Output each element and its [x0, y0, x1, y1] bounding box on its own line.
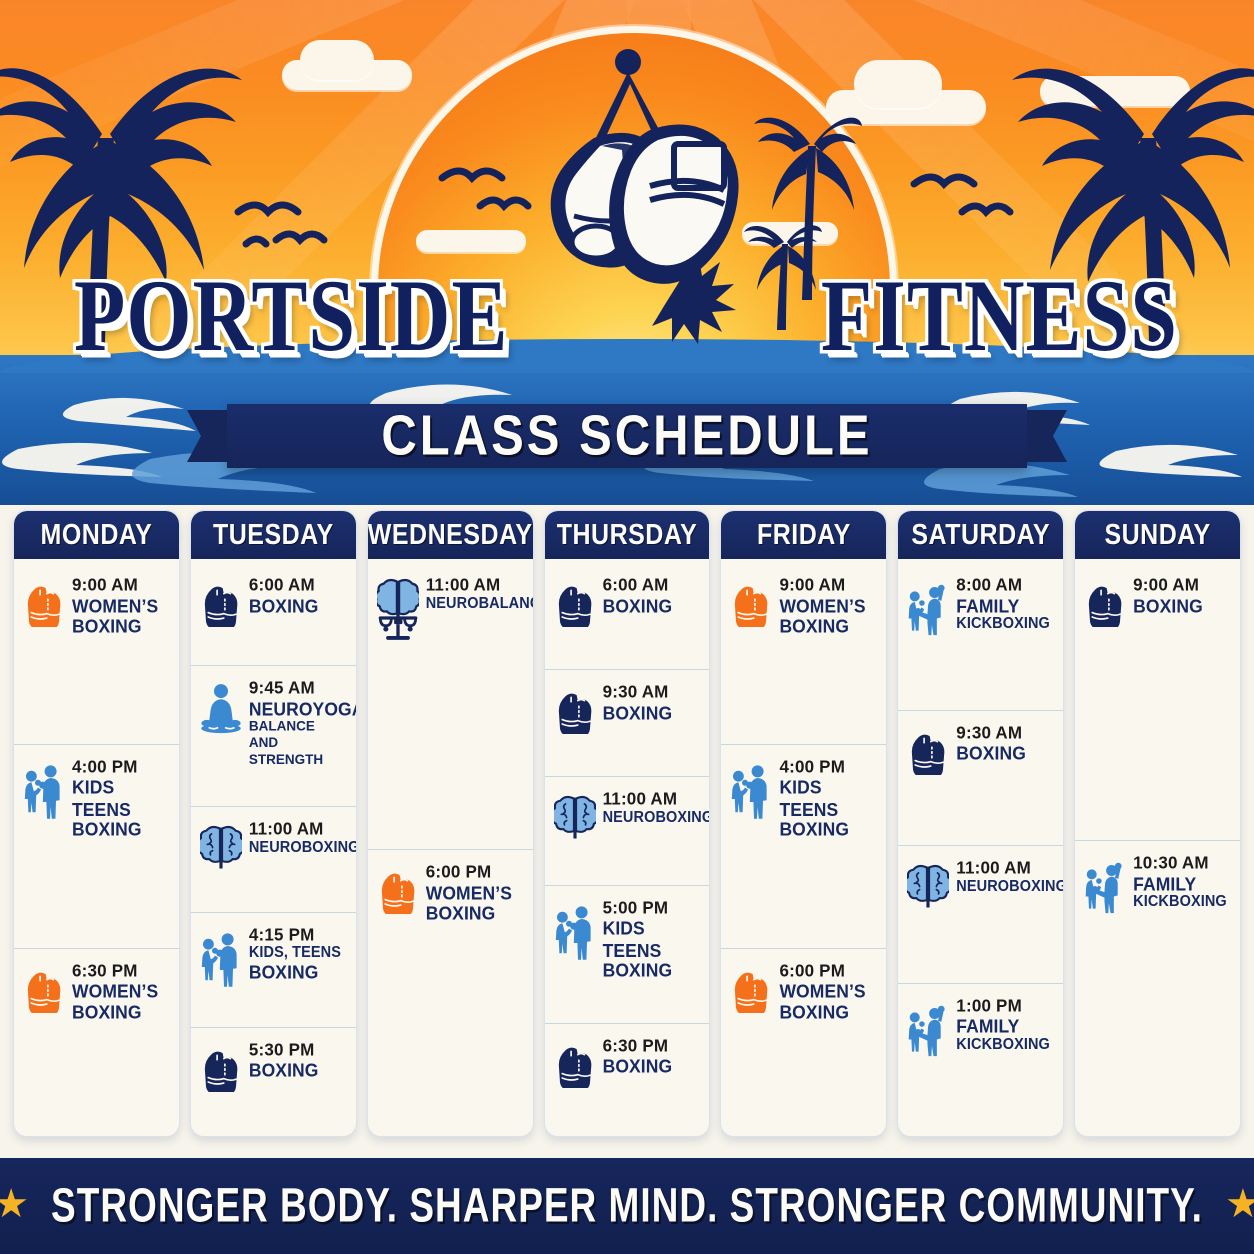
schedule-poster: PORTSIDE FITNESS CLASS SCHEDULE MONDAY9:…	[0, 0, 1254, 1254]
day-header: FRIDAY	[721, 511, 886, 559]
class-schedule-ribbon: CLASS SCHEDULE	[227, 404, 1027, 468]
slot-title-line2: BOXING	[779, 819, 877, 841]
day-name: TUESDAY	[213, 518, 334, 551]
slot-title: FAMILY	[956, 1015, 1054, 1037]
slot-title-line2: BOXING	[603, 960, 701, 982]
navy-boxing-gloves-icon	[200, 1042, 242, 1092]
day-header: TUESDAY	[191, 511, 356, 559]
slot-text: 4:00 PMKIDS TEENSBOXING	[72, 757, 170, 839]
seagull-icon	[906, 160, 1026, 230]
slot-text: 9:45 AMNEUROYOGABALANCE AND STRENGTH	[249, 678, 347, 768]
footer-tagline: STRONGER BODY. SHARPER MIND. STRONGER CO…	[51, 1179, 1203, 1234]
slot-title-line2: BOXING	[249, 962, 347, 984]
slot-icon-wrap	[554, 789, 596, 843]
slot-title-line2: BOXING	[72, 616, 170, 638]
class-slot[interactable]: 10:30 AMFAMILYKICKBOXING	[1075, 841, 1240, 1130]
class-slot[interactable]: 6:00 PMWOMEN’SBOXING	[721, 949, 886, 1130]
day-slot-list: 8:00 AMFAMILYKICKBOXING9:30 AMBOXING11:0…	[898, 559, 1063, 1136]
class-slot[interactable]: 9:45 AMNEUROYOGABALANCE AND STRENGTH	[191, 666, 356, 807]
hero-banner: PORTSIDE FITNESS CLASS SCHEDULE	[0, 0, 1254, 505]
class-slot[interactable]: 5:30 PMBOXING	[191, 1028, 356, 1130]
slot-title: KIDS TEENS	[603, 918, 701, 962]
class-slot[interactable]: 6:00 PMWOMEN’SBOXING	[368, 850, 533, 1130]
blue-kickboxing-icon	[907, 998, 949, 1060]
slot-time: 9:00 AM	[72, 575, 170, 596]
class-slot[interactable]: 11:00 AMNEUROBALANCE	[368, 563, 533, 850]
orange-boxing-gloves-icon	[23, 577, 65, 627]
slot-time: 9:45 AM	[249, 678, 347, 699]
slot-icon-wrap	[730, 575, 772, 627]
slot-title-line2: KICKBOXING	[956, 616, 1054, 634]
slot-time: 4:00 PM	[779, 757, 877, 778]
slot-icon-wrap	[554, 1036, 596, 1088]
day-slot-list: 6:00 AMBOXING9:45 AMNEUROYOGABALANCE AND…	[191, 559, 356, 1136]
day-header: SATURDAY	[898, 511, 1063, 559]
slot-time: 11:00 AM	[956, 858, 1054, 879]
cloud-icon	[854, 60, 942, 108]
class-slot[interactable]: 6:00 AMBOXING	[545, 563, 710, 670]
navy-boxing-gloves-icon	[554, 684, 596, 734]
slot-icon-wrap	[554, 575, 596, 627]
slot-icon-wrap	[200, 1040, 242, 1092]
slot-title-line2: BOXING	[779, 1001, 877, 1023]
slot-icon-wrap	[1084, 853, 1126, 917]
slot-title: BOXING	[956, 742, 1054, 764]
class-slot[interactable]: 4:00 PMKIDS TEENSBOXING	[721, 745, 886, 948]
brain-balance-scale-icon	[377, 577, 419, 643]
day-slot-list: 9:00 AMWOMEN’SBOXING4:00 PMKIDS TEENSBOX…	[721, 559, 886, 1136]
brand-word-portside: PORTSIDE	[74, 257, 508, 375]
slot-title: BOXING	[1133, 595, 1231, 617]
class-slot[interactable]: 6:30 PMWOMEN’SBOXING	[14, 949, 179, 1130]
day-header: THURSDAY	[545, 511, 710, 559]
slot-title: WOMEN’S	[72, 595, 170, 617]
slot-title: NEUROYOGA	[249, 698, 347, 720]
slot-time: 6:30 PM	[603, 1035, 701, 1056]
day-slot-list: 11:00 AMNEUROBALANCE6:00 PMWOMEN’SBOXING	[368, 559, 533, 1136]
blue-brain-icon	[907, 860, 949, 912]
slot-time: 9:30 AM	[956, 722, 1054, 743]
class-slot[interactable]: 6:00 AMBOXING	[191, 563, 356, 666]
navy-boxing-gloves-icon	[200, 577, 242, 627]
day-name: FRIDAY	[757, 518, 851, 551]
blue-kids-boxing-icon	[23, 759, 65, 821]
class-slot[interactable]: 9:00 AMBOXING	[1075, 563, 1240, 841]
slot-title: WOMEN’S	[72, 980, 170, 1002]
slot-icon-wrap	[200, 925, 242, 989]
day-header: SUNDAY	[1075, 511, 1240, 559]
slot-title: BOXING	[249, 595, 347, 617]
orange-boxing-gloves-icon	[730, 577, 772, 627]
blue-yoga-meditation-icon	[200, 680, 242, 736]
slot-title: KIDS TEENS	[72, 777, 170, 821]
slot-title: WOMEN’S	[779, 595, 877, 617]
slot-text: 9:00 AMWOMEN’SBOXING	[779, 575, 877, 637]
slot-icon-wrap	[554, 682, 596, 734]
slot-title: FAMILY	[1133, 873, 1231, 895]
slot-title: KIDS TEENS	[779, 777, 877, 821]
slot-text: 11:00 AMNEUROBOXING	[956, 858, 1054, 896]
class-slot[interactable]: 6:30 PMBOXING	[545, 1024, 710, 1130]
class-slot[interactable]: 11:00 AMNEUROBOXING	[898, 846, 1063, 984]
slot-icon-wrap	[200, 575, 242, 627]
star-icon: ★	[1225, 1184, 1254, 1224]
slot-title-line2: BOXING	[426, 903, 524, 925]
slot-icon-wrap	[200, 819, 242, 873]
slot-time: 6:00 AM	[603, 575, 701, 596]
day-column-sunday[interactable]: SUNDAY9:00 AMBOXING10:30 AMFAMILYKICKBOX…	[1074, 510, 1241, 1137]
slot-icon-wrap	[377, 862, 419, 914]
day-slot-list: 9:00 AMBOXING10:30 AMFAMILYKICKBOXING	[1075, 559, 1240, 1136]
star-icon: ★	[0, 1184, 29, 1224]
blue-kids-boxing-icon	[730, 759, 772, 821]
slot-time: 9:00 AM	[1133, 575, 1231, 596]
day-name: SUNDAY	[1104, 518, 1210, 551]
class-schedule-title: CLASS SCHEDULE	[227, 399, 1027, 473]
slot-title: BOXING	[603, 595, 701, 617]
slot-text: 6:00 PMWOMEN’SBOXING	[426, 862, 524, 924]
slot-subtitle: BALANCE AND STRENGTH	[249, 718, 347, 769]
slot-text: 6:00 AMBOXING	[603, 575, 701, 616]
day-slot-list: 9:00 AMWOMEN’SBOXING4:00 PMKIDS TEENSBOX…	[14, 559, 179, 1136]
slot-time: 6:00 PM	[779, 960, 877, 981]
slot-icon-wrap	[23, 961, 65, 1013]
brand-word-fitness: FITNESS	[821, 257, 1178, 375]
blue-kids-boxing-icon	[554, 900, 596, 962]
slot-title: FAMILY	[956, 595, 1054, 617]
navy-boxing-gloves-icon	[554, 577, 596, 627]
class-slot[interactable]: 11:00 AMNEUROBOXING	[545, 777, 710, 886]
class-slot[interactable]: 9:30 AMBOXING	[545, 670, 710, 777]
slot-title-line2: KICKBOXING	[956, 1036, 1054, 1054]
navy-boxing-gloves-icon	[1084, 577, 1126, 627]
slot-title-line2: BOXING	[72, 819, 170, 841]
slot-text: 9:30 AMBOXING	[956, 723, 1054, 764]
day-column-saturday[interactable]: SATURDAY8:00 AMFAMILYKICKBOXING9:30 AMBO…	[897, 510, 1064, 1137]
day-name: WEDNESDAY	[368, 518, 533, 551]
slot-icon-wrap	[730, 757, 772, 821]
day-header: MONDAY	[14, 511, 179, 559]
slot-text: 4:15 PMKIDS, TEENSBOXING	[249, 925, 347, 983]
slot-text: 6:30 PMWOMEN’SBOXING	[72, 961, 170, 1023]
slot-time: 1:00 PM	[956, 995, 1054, 1016]
slot-title: WOMEN’S	[779, 980, 877, 1002]
slot-text: 5:30 PMBOXING	[249, 1040, 347, 1081]
orange-boxing-gloves-icon	[23, 963, 65, 1013]
slot-icon-wrap	[200, 678, 242, 736]
day-name: MONDAY	[41, 518, 153, 551]
slot-time: 6:00 AM	[249, 575, 347, 596]
slot-time: 11:00 AM	[426, 575, 524, 596]
slot-time: 11:00 AM	[603, 789, 701, 810]
day-slot-list: 6:00 AMBOXING9:30 AMBOXING11:00 AMNEUROB…	[545, 559, 710, 1136]
blue-brain-icon	[554, 791, 596, 843]
orange-boxing-gloves-icon	[377, 864, 419, 914]
brand-title: PORTSIDE FITNESS	[0, 268, 1254, 368]
slot-text: 11:00 AMNEUROBOXING	[603, 789, 701, 827]
class-slot[interactable]: 9:00 AMWOMEN’SBOXING	[721, 563, 886, 745]
slot-title: NEUROBALANCE	[426, 595, 524, 613]
slot-title: BOXING	[249, 1060, 347, 1082]
slot-time: 10:30 AM	[1133, 853, 1231, 874]
day-column-wednesday[interactable]: WEDNESDAY11:00 AMNEUROBALANCE6:00 PMWOME…	[367, 510, 534, 1137]
slot-text: 11:00 AMNEUROBOXING	[249, 819, 347, 857]
class-slot[interactable]: 9:00 AMWOMEN’SBOXING	[14, 563, 179, 745]
cloud-icon	[300, 40, 374, 80]
slot-title: NEUROBOXING	[249, 839, 347, 857]
day-column-friday[interactable]: FRIDAY9:00 AMWOMEN’SBOXING4:00 PMKIDS TE…	[720, 510, 887, 1137]
slot-time: 5:30 PM	[249, 1039, 347, 1060]
slot-time: 11:00 AM	[249, 819, 347, 840]
slot-text: 10:30 AMFAMILYKICKBOXING	[1133, 853, 1231, 911]
slot-icon-wrap	[907, 858, 949, 912]
slot-icon-wrap	[907, 575, 949, 639]
day-name: THURSDAY	[557, 518, 698, 551]
slot-text: 6:00 AMBOXING	[249, 575, 347, 616]
class-slot[interactable]: 8:00 AMFAMILYKICKBOXING	[898, 563, 1063, 711]
navy-boxing-gloves-icon	[554, 1038, 596, 1088]
slot-icon-wrap	[377, 575, 419, 643]
slot-text: 6:00 PMWOMEN’SBOXING	[779, 961, 877, 1023]
schedule-grid: MONDAY9:00 AMWOMEN’SBOXING4:00 PMKIDS TE…	[0, 510, 1254, 1144]
footer-banner: ★ STRONGER BODY. SHARPER MIND. STRONGER …	[0, 1158, 1254, 1254]
slot-text: 5:00 PMKIDS TEENSBOXING	[603, 898, 701, 980]
class-slot[interactable]: 11:00 AMNEUROBOXING	[191, 807, 356, 912]
slot-time: 6:30 PM	[72, 960, 170, 981]
slot-title: KIDS, TEENS	[249, 945, 347, 963]
blue-brain-icon	[200, 821, 242, 873]
slot-text: 6:30 PMBOXING	[603, 1036, 701, 1077]
slot-time: 4:00 PM	[72, 757, 170, 778]
slot-text: 11:00 AMNEUROBALANCE	[426, 575, 524, 613]
slot-icon-wrap	[1084, 575, 1126, 627]
class-slot[interactable]: 4:15 PMKIDS, TEENSBOXING	[191, 913, 356, 1028]
slot-text: 9:30 AMBOXING	[603, 682, 701, 723]
day-column-monday[interactable]: MONDAY9:00 AMWOMEN’SBOXING4:00 PMKIDS TE…	[13, 510, 180, 1137]
slot-icon-wrap	[554, 898, 596, 962]
slot-icon-wrap	[907, 996, 949, 1060]
day-header: WEDNESDAY	[368, 511, 533, 559]
slot-time: 8:00 AM	[956, 575, 1054, 596]
slot-title: BOXING	[603, 1056, 701, 1078]
blue-kickboxing-icon	[907, 577, 949, 639]
class-slot[interactable]: 1:00 PMFAMILYKICKBOXING	[898, 984, 1063, 1131]
slot-title-line2: BOXING	[779, 616, 877, 638]
slot-title: BOXING	[603, 702, 701, 724]
navy-boxing-gloves-icon	[907, 725, 949, 775]
slot-text: 1:00 PMFAMILYKICKBOXING	[956, 996, 1054, 1054]
slot-title: NEUROBOXING	[956, 878, 1054, 896]
slot-text: 8:00 AMFAMILYKICKBOXING	[956, 575, 1054, 633]
slot-title-line2: KICKBOXING	[1133, 894, 1231, 912]
blue-kickboxing-icon	[1084, 855, 1126, 917]
slot-title: WOMEN’S	[426, 882, 524, 904]
day-name: SATURDAY	[911, 518, 1050, 551]
day-column-thursday[interactable]: THURSDAY6:00 AMBOXING9:30 AMBOXING11:00 …	[544, 510, 711, 1137]
slot-time: 9:00 AM	[779, 575, 877, 596]
slot-icon-wrap	[730, 961, 772, 1013]
orange-boxing-gloves-icon	[730, 963, 772, 1013]
class-slot[interactable]: 5:00 PMKIDS TEENSBOXING	[545, 886, 710, 1024]
slot-icon-wrap	[23, 575, 65, 627]
class-slot[interactable]: 4:00 PMKIDS TEENSBOXING	[14, 745, 179, 948]
class-slot[interactable]: 9:30 AMBOXING	[898, 711, 1063, 847]
slot-icon-wrap	[23, 757, 65, 821]
slot-time: 9:30 AM	[603, 682, 701, 703]
slot-text: 9:00 AMBOXING	[1133, 575, 1231, 616]
slot-time: 6:00 PM	[426, 862, 524, 883]
slot-time: 5:00 PM	[603, 898, 701, 919]
slot-text: 9:00 AMWOMEN’SBOXING	[72, 575, 170, 637]
slot-text: 4:00 PMKIDS TEENSBOXING	[779, 757, 877, 839]
blue-kids-boxing-icon	[200, 927, 242, 989]
seagull-icon	[232, 186, 342, 256]
slot-time: 4:15 PM	[249, 924, 347, 945]
slot-title-line2: BOXING	[72, 1001, 170, 1023]
day-column-tuesday[interactable]: TUESDAY6:00 AMBOXING9:45 AMNEUROYOGABALA…	[190, 510, 357, 1137]
slot-icon-wrap	[907, 723, 949, 775]
slot-title: NEUROBOXING	[603, 809, 701, 827]
